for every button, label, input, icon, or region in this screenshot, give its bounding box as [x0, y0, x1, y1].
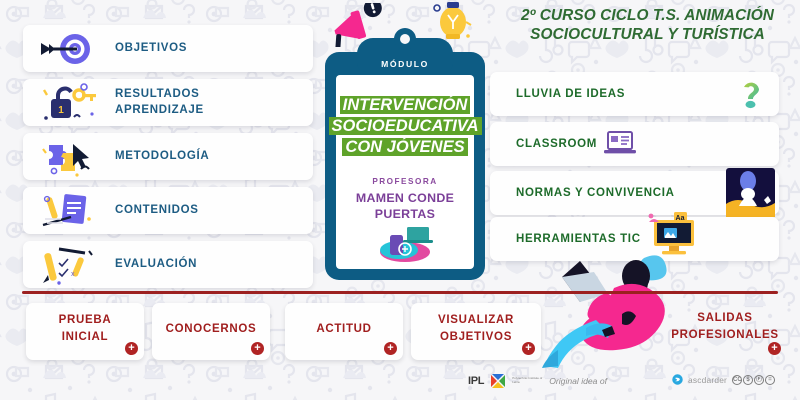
section-divider	[22, 291, 778, 294]
expand-plus-icon[interactable]: +	[125, 342, 138, 355]
sidebar-item-label: OBJETIVOS	[115, 41, 187, 57]
course-title: 2º CURSO CICLO T.S. ANIMACIÓN SOCIOCULTU…	[500, 6, 795, 45]
module-title-line2: SOCIOEDUCATIVA	[329, 117, 482, 135]
bottom-item-prueba-inicial[interactable]: PRUEBA INICIAL +	[26, 303, 144, 360]
sidebar-item-contenidos[interactable]: CONTENIDOS	[23, 187, 313, 234]
teacher-name-line1: MAMEN CONDE	[356, 191, 454, 207]
sidebar-item-label-line2: APRENDIZAJE	[115, 103, 204, 119]
bottom-item-label: CONOCERNOS	[166, 321, 257, 343]
teacher-label: PROFESORA	[372, 177, 437, 186]
sidebar-item-metodologia[interactable]: METODOLOGÍA	[23, 133, 313, 180]
padlock-key-icon: 1	[23, 79, 115, 126]
creative-commons-badges: CC $ Ⓕ =	[732, 375, 775, 385]
puzzle-cursor-icon	[23, 133, 115, 180]
sidebar-item-label: NORMAS Y CONVIVENCIA	[516, 187, 675, 199]
sidebar-item-label-line1: RESULTADOS	[115, 87, 204, 103]
clipboard-modulo-label: MÓDULO	[381, 59, 429, 69]
sidebar-item-label: EVALUACIÓN	[115, 257, 197, 273]
bottom-item-label: VISUALIZAR OBJETIVOS	[438, 312, 514, 350]
ipl-mark-icon	[489, 372, 507, 390]
expand-plus-icon[interactable]: +	[768, 342, 781, 355]
course-title-line1: 2º CURSO CICLO T.S. ANIMACIÓN	[500, 6, 795, 25]
devices-illustration	[369, 221, 441, 263]
bottom-item-label: PRUEBA INICIAL	[59, 312, 112, 350]
sidebar-item-normas-y-convivencia[interactable]: NORMAS Y CONVIVENCIA	[490, 171, 779, 215]
footer-credits-left: IPL Polytechnic Institute of Leiria Orig…	[468, 372, 607, 390]
svg-text:x: x	[71, 271, 75, 278]
teacher-name: MAMEN CONDE PUERTAS	[356, 191, 454, 222]
sidebar-item-evaluacion[interactable]: x EVALUACIÓN	[23, 241, 313, 288]
person-with-laptop-illustration	[540, 242, 700, 368]
bottom-item-label: ACTITUD	[316, 321, 371, 343]
sidebar-item-lluvia-de-ideas[interactable]: LLUVIA DE IDEAS	[490, 72, 779, 116]
cc-badge: $	[743, 375, 753, 385]
document-pencil-icon	[23, 187, 115, 234]
bottom-item-label-line2: OBJETIVOS	[438, 329, 514, 346]
laptop-icon	[604, 130, 636, 157]
bottom-item-visualizar-objetivos[interactable]: VISUALIZAR OBJETIVOS +	[411, 303, 541, 360]
clipboard-ring	[394, 28, 416, 50]
course-title-line2: SOCIOCULTURAL Y TURÍSTICA	[500, 25, 795, 44]
module-clipboard: MÓDULO INTERVENCIÓN SOCIOEDUCATIVA CON J…	[325, 52, 485, 280]
bottom-item-actitud[interactable]: ACTITUD +	[285, 303, 403, 360]
twitter-bird-icon	[672, 374, 683, 385]
ipl-subtitle-text: Polytechnic Institute of Leiria	[512, 377, 544, 385]
checklist-pencil-icon: x	[23, 241, 115, 288]
bottom-item-label-line1: VISUALIZAR	[438, 312, 514, 329]
target-icon	[23, 25, 115, 72]
sidebar-item-classroom[interactable]: CLASSROOM	[490, 122, 779, 166]
sidebar-item-objetivos[interactable]: OBJETIVOS	[23, 25, 313, 72]
module-title: INTERVENCIÓN SOCIOEDUCATIVA CON JÓVENES	[327, 95, 484, 157]
footer-credits-right: ascdarder CC $ Ⓕ =	[672, 374, 775, 385]
expand-plus-icon[interactable]: +	[251, 342, 264, 355]
sidebar-item-label: METODOLOGÍA	[115, 149, 209, 165]
cc-badge: =	[765, 375, 775, 385]
person-photo-icon	[726, 168, 775, 217]
svg-text:1: 1	[58, 105, 64, 116]
expand-plus-icon[interactable]: +	[522, 342, 535, 355]
sidebar-item-label: CONTENIDOS	[115, 203, 199, 219]
sidebar-item-label: LLUVIA DE IDEAS	[516, 88, 625, 100]
bottom-item-label-line1: PRUEBA	[59, 312, 112, 329]
sidebar-item-label: RESULTADOS APRENDIZAJE	[115, 87, 204, 118]
ascdarder-text: ascdarder	[688, 375, 727, 385]
original-idea-text: Original idea of	[549, 376, 607, 386]
ipl-logo-text: IPL	[468, 375, 484, 387]
module-title-line3: CON JÓVENES	[342, 138, 467, 156]
sidebar-item-label: CLASSROOM	[516, 138, 597, 150]
question-mark-icon	[735, 77, 769, 111]
expand-plus-icon[interactable]: +	[384, 342, 397, 355]
bottom-item-label-line2: INICIAL	[59, 329, 112, 346]
svg-text:Aa: Aa	[676, 215, 685, 222]
sidebar-item-resultados-aprendizaje[interactable]: 1 RESULTADOS APRENDIZAJE	[23, 79, 313, 126]
bottom-item-conocernos[interactable]: CONOCERNOS +	[152, 303, 270, 360]
cc-badge: Ⓕ	[754, 375, 764, 385]
module-title-line1: INTERVENCIÓN	[340, 96, 471, 114]
clipboard-paper: INTERVENCIÓN SOCIOEDUCATIVA CON JÓVENES …	[336, 75, 474, 269]
cc-badge: CC	[732, 375, 742, 385]
